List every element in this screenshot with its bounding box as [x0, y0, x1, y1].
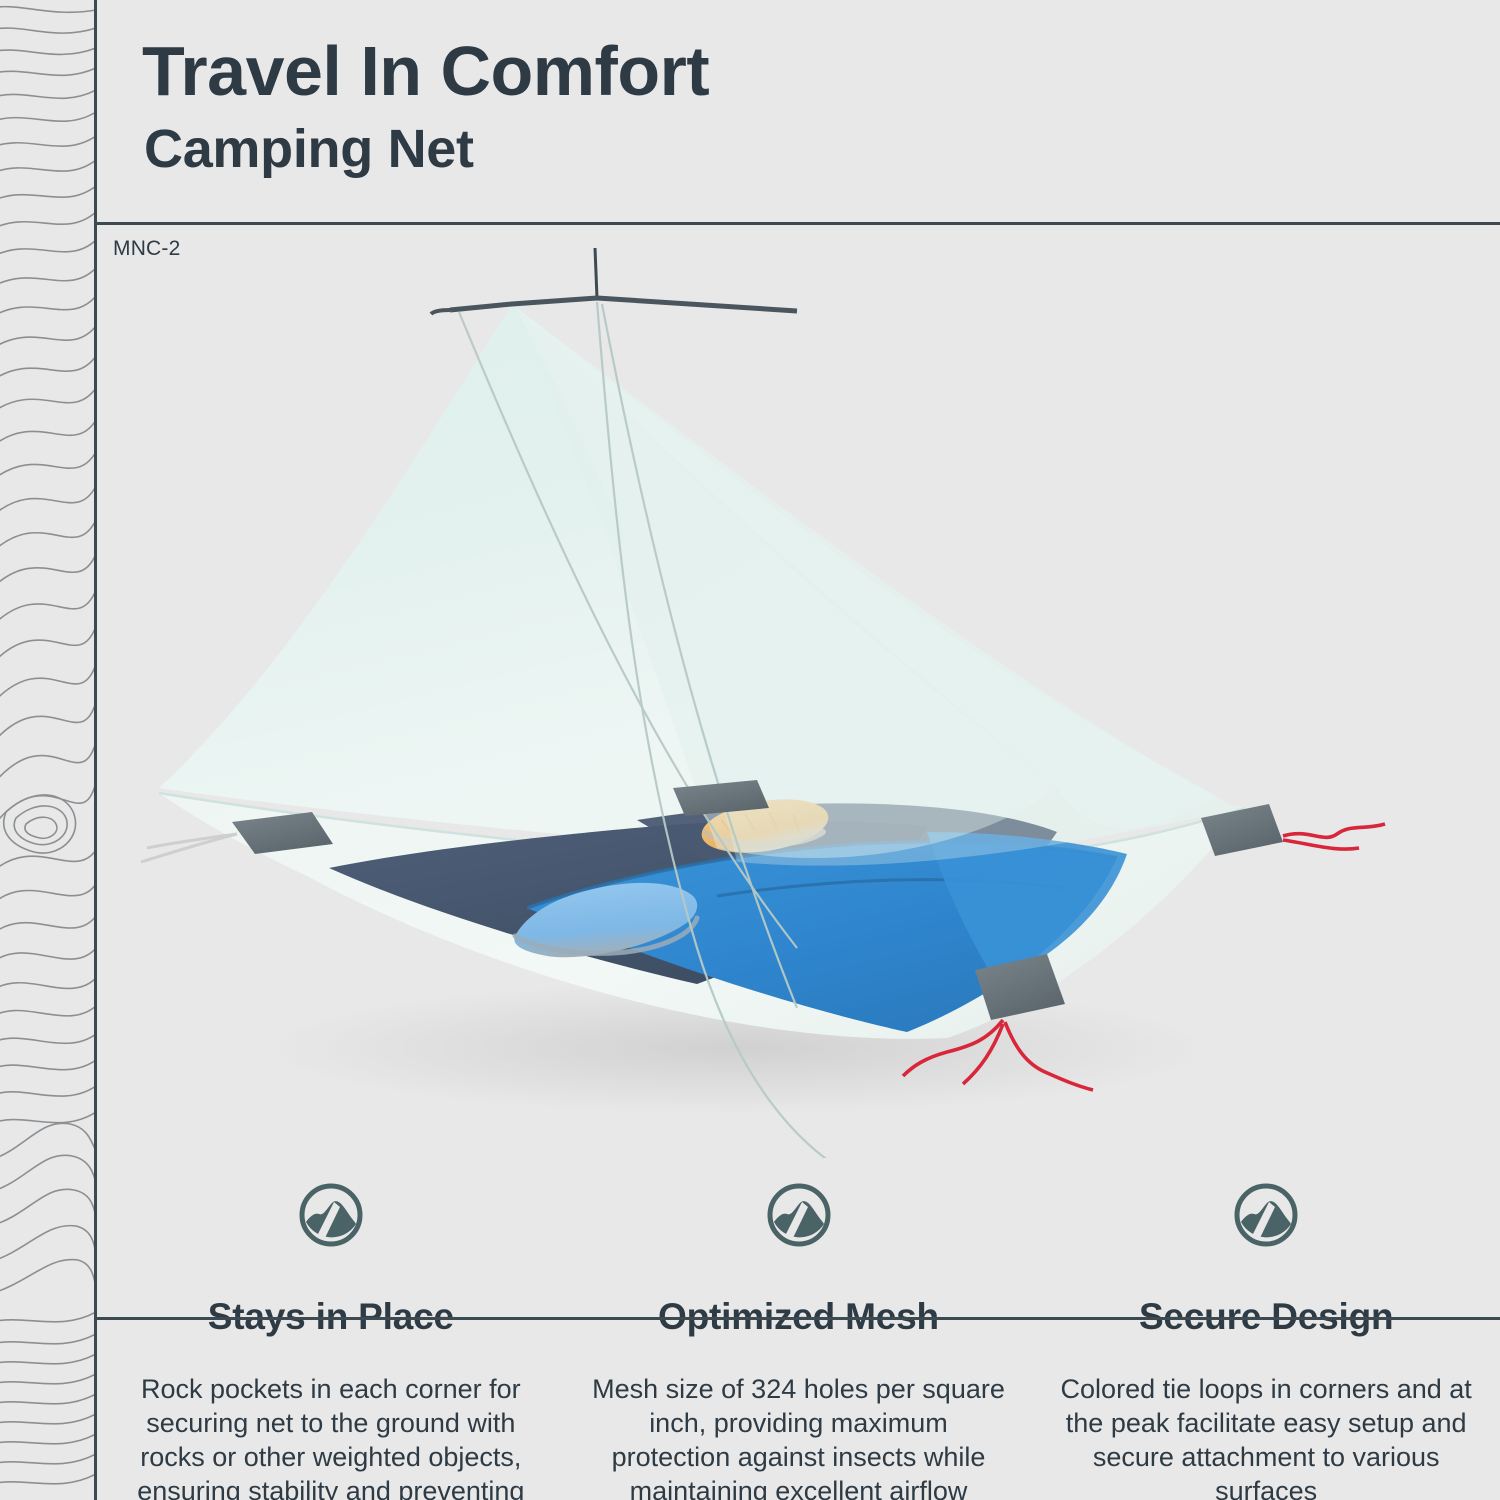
apex-hanging-cord — [512, 248, 597, 304]
feature-secure-design: Secure Design Colored tie loops in corne… — [1032, 1160, 1500, 1500]
topographic-pattern-strip — [0, 0, 96, 1500]
mountain-circle-icon — [1233, 1182, 1299, 1248]
page-subtitle: Camping Net — [144, 122, 474, 176]
tie-cord-white — [141, 834, 237, 862]
feature-body: Colored tie loops in corners and at the … — [1048, 1372, 1484, 1500]
header-divider — [94, 222, 1500, 225]
mountain-circle-icon — [298, 1182, 364, 1248]
feature-optimized-mesh: Optimized Mesh Mesh size of 324 holes pe… — [565, 1160, 1033, 1500]
product-image — [97, 248, 1500, 1158]
feature-stays-in-place: Stays in Place Rock pockets in each corn… — [97, 1160, 565, 1500]
mountain-circle-icon — [766, 1182, 832, 1248]
feature-divider — [94, 1317, 1500, 1320]
feature-body: Rock pockets in each corner for securing… — [113, 1372, 549, 1500]
features-section: Stays in Place Rock pockets in each corn… — [97, 1160, 1500, 1500]
tie-cord-red — [1283, 824, 1385, 849]
header: Travel In Comfort Camping Net — [97, 0, 1500, 224]
product-infographic-page: Travel In Comfort Camping Net MNC-2 — [0, 0, 1500, 1500]
page-title: Travel In Comfort — [142, 36, 709, 106]
feature-body: Mesh size of 324 holes per square inch, … — [581, 1372, 1017, 1500]
